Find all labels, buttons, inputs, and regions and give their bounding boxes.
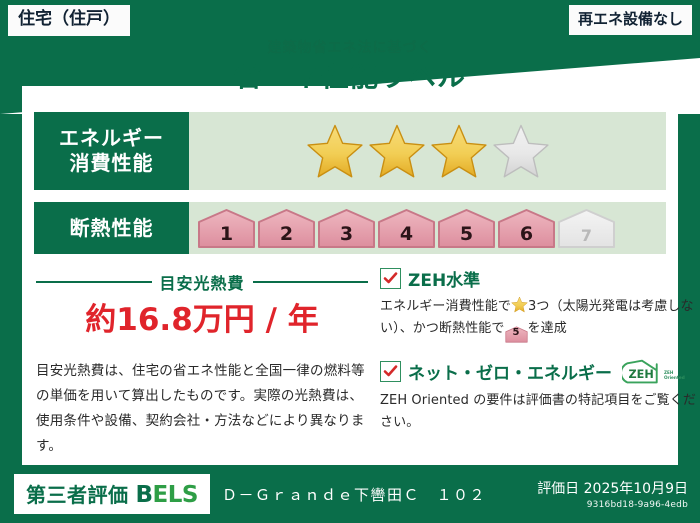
title-subtitle: 建築物省エネ法に基づく: [0, 40, 700, 57]
third-party-evaluation-label: 第三者評価: [26, 479, 129, 508]
bels-certification-chip: 第三者評価 BELS: [14, 474, 210, 514]
zeh-body-pre: エネルギー消費性能で: [380, 299, 511, 314]
net-zero-energy-body: ZEH Oriented の要件は評価書の特記項目をご覧ください。: [380, 390, 700, 435]
insulation-level-badge: 7: [557, 208, 616, 249]
star-empty-icon: [492, 123, 550, 179]
net-zero-energy-checkbox[interactable]: [380, 361, 401, 382]
zeh-standard-header: ZEH水準: [380, 266, 700, 291]
zeh-sub-line2: Oriented: [664, 375, 685, 380]
property-name: Ｄ－Ｇｒａｎｄｅ下轡田Ｃ １０２: [222, 484, 486, 505]
insulation-level-number: 3: [340, 223, 353, 249]
energy-star-rating: [189, 112, 666, 190]
svg-text:ZEH: ZEH: [629, 368, 654, 381]
insulation-performance-label: 断熱性能: [34, 202, 189, 254]
heading-rule-left: [36, 281, 152, 283]
insulation-level-number: 2: [280, 223, 293, 249]
evaluation-date: 評価日 2025年10月9日: [537, 478, 688, 498]
insulation-level-badge: 3: [317, 208, 376, 249]
insulation-level-badge: 5: [437, 208, 496, 249]
heading-rule-right: [253, 281, 369, 283]
utility-cost-note: 目安光熱費は、住宅の省エネ性能と全国一律の燃料等の単価を用いて算出したものです。…: [36, 359, 368, 459]
utility-cost-heading: 目安光熱費: [36, 270, 368, 294]
energy-label-line2: 消費性能: [70, 151, 154, 176]
zeh-standard-title: ZEH水準: [408, 266, 480, 291]
energy-performance-row: エネルギー 消費性能: [34, 112, 666, 190]
insulation-level-number: 5: [460, 223, 473, 249]
footer-bar: 第三者評価 BELS Ｄ－Ｇｒａｎｄｅ下轡田Ｃ １０２ 評価日 2025年10月…: [0, 465, 700, 523]
insulation-level-badge: 1: [197, 208, 256, 249]
title-main: 省エネ性能ラベル: [0, 59, 700, 94]
net-zero-energy-header: ネット・ゼロ・エネルギー ZEH ZEH Oriented: [380, 359, 700, 385]
insulation-level-number: 6: [520, 223, 533, 249]
label-body-panel: エネルギー 消費性能 断熱性能 1234567 目安光熱費 約16.8万円 / …: [22, 98, 678, 465]
check-icon: [383, 364, 398, 379]
utility-cost-amount: 約16.8万円 / 年: [36, 303, 368, 337]
zeh-body-post: を達成: [528, 321, 567, 336]
inline-level-badge: 5: [505, 321, 528, 336]
insulation-level-number: 7: [581, 226, 592, 249]
insulation-level-badge: 5: [505, 326, 528, 343]
insulation-level-badge: 6: [497, 208, 556, 249]
net-zero-energy-title: ネット・ゼロ・エネルギー: [408, 359, 612, 384]
bels-logo-b: B: [136, 482, 153, 508]
zeh-oriented-logo: ZEH ZEH Oriented: [622, 359, 685, 385]
energy-label-root: 住宅（住戸） 再エネ設備なし 建築物省エネ法に基づく 省エネ性能ラベル エネルギ…: [0, 0, 700, 523]
utility-cost-heading-text: 目安光熱費: [160, 270, 245, 294]
insulation-level-badge: 2: [257, 208, 316, 249]
insulation-level-badge: 4: [377, 208, 436, 249]
star-filled-icon: [368, 123, 426, 179]
bels-logo-els: ELS: [153, 482, 198, 508]
inline-star-icon: [511, 299, 528, 314]
zeh-standard-block: ZEH水準 エネルギー消費性能で3つ（太陽光発電は考慮しない）、かつ断熱性能で5…: [380, 266, 700, 343]
zeh-oriented-sublabel: ZEH Oriented: [664, 371, 685, 385]
zeh-house-icon: ZEH: [622, 359, 662, 385]
renewable-equipment-tag: 再エネ設備なし: [569, 5, 692, 35]
star-filled-icon: [430, 123, 488, 179]
zeh-standard-checkbox[interactable]: [380, 268, 401, 289]
label-title: 建築物省エネ法に基づく 省エネ性能ラベル: [0, 40, 700, 94]
star-filled-icon: [511, 296, 528, 313]
building-type-tag: 住宅（住戸）: [8, 5, 130, 36]
evaluation-date-box: 評価日 2025年10月9日 9316bd18-9a96-4edb: [537, 478, 688, 510]
insulation-label-text: 断熱性能: [70, 216, 154, 241]
bels-logo: BELS: [136, 482, 198, 508]
energy-label-line1: エネルギー: [59, 126, 164, 151]
check-icon: [383, 271, 398, 286]
utility-cost-section: 目安光熱費 約16.8万円 / 年 目安光熱費は、住宅の省エネ性能と全国一律の燃…: [36, 270, 368, 459]
insulation-level-scale: 1234567: [189, 202, 666, 254]
energy-performance-label: エネルギー 消費性能: [34, 112, 189, 190]
zeh-section: ZEH水準 エネルギー消費性能で3つ（太陽光発電は考慮しない）、かつ断熱性能で5…: [380, 266, 700, 450]
insulation-performance-row: 断熱性能 1234567: [34, 202, 666, 254]
insulation-level-number: 4: [400, 223, 413, 249]
evaluation-id: 9316bd18-9a96-4edb: [537, 500, 688, 510]
insulation-level-number: 5: [512, 324, 519, 342]
net-zero-energy-block: ネット・ゼロ・エネルギー ZEH ZEH Oriented ZEH Orient…: [380, 359, 700, 435]
star-filled-icon: [306, 123, 364, 179]
zeh-standard-body: エネルギー消費性能で3つ（太陽光発電は考慮しない）、かつ断熱性能で5を達成: [380, 296, 700, 343]
insulation-level-number: 1: [220, 223, 233, 249]
